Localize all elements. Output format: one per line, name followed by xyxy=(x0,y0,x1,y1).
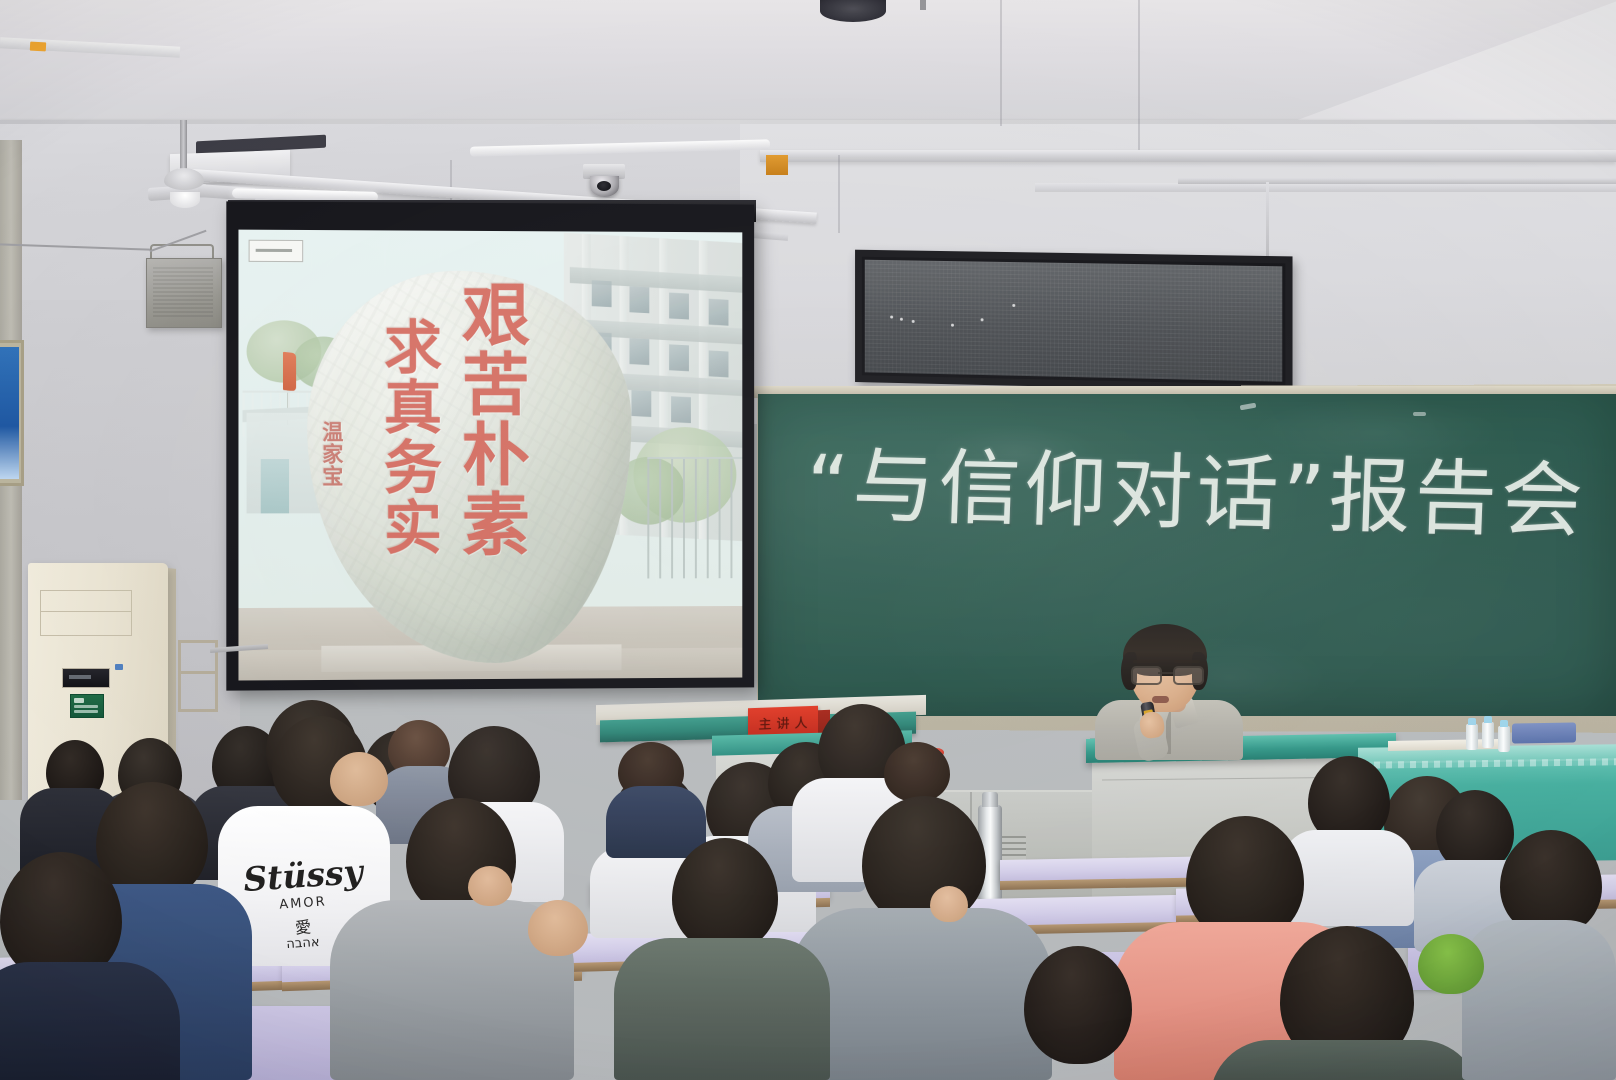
ceiling-fan-lamp xyxy=(170,192,200,208)
student-hand xyxy=(930,886,968,922)
wall-seam xyxy=(838,155,840,233)
student-hand xyxy=(468,866,512,906)
water-bottle xyxy=(1466,724,1478,750)
student-head xyxy=(672,838,778,952)
ceiling-fan-mount-icon xyxy=(820,0,886,22)
blue-case xyxy=(1512,722,1576,743)
presenter-mouth xyxy=(1152,696,1169,703)
ceiling-fan-rod xyxy=(180,120,187,172)
energy-efficiency-label xyxy=(70,694,104,718)
slide-calligraphy-signature: 温家宝 xyxy=(321,421,343,487)
thermos-cap xyxy=(982,792,998,807)
air-conditioner-vent-grill xyxy=(40,590,132,636)
slide-calligraphy-left: 求真务实 xyxy=(378,317,437,558)
led-display-screen xyxy=(865,260,1282,382)
ceiling-fan-rod-2 xyxy=(920,0,926,10)
lecture-hall-photo: “与信仰对话”报告会 主 讲 人 xyxy=(0,0,1616,1080)
wall-marker-orange xyxy=(766,155,788,175)
ceiling-beam-horizontal-2 xyxy=(1035,183,1616,192)
water-bottle xyxy=(1498,726,1510,752)
led-scrolling-display[interactable] xyxy=(855,250,1292,392)
wall-speaker xyxy=(146,258,222,328)
slide-flag xyxy=(283,352,296,392)
slide-plaque xyxy=(249,240,304,262)
notice-board-frame xyxy=(0,340,24,486)
slide-fence-right xyxy=(647,457,742,579)
student-torso xyxy=(614,938,830,1080)
water-bottle xyxy=(1482,722,1494,748)
wall-conduit xyxy=(1178,178,1616,184)
projected-slide: 艰苦朴素 求真务实 温家宝 xyxy=(238,230,742,681)
student-hand xyxy=(330,752,388,806)
air-conditioner-display[interactable] xyxy=(62,668,110,688)
student-torso xyxy=(1462,920,1616,1080)
wall-conduit-drop xyxy=(1266,182,1269,257)
student-head xyxy=(1024,946,1132,1064)
student-backpack xyxy=(1418,934,1484,994)
placard-char-3: 人 xyxy=(795,712,808,731)
placard-char-2: 讲 xyxy=(776,712,789,731)
student-head xyxy=(884,742,950,802)
wall-seam xyxy=(1138,0,1140,150)
camera-lens-icon xyxy=(597,181,611,191)
dome-security-camera-icon xyxy=(590,176,619,197)
wall-seam xyxy=(1000,0,1002,126)
presenter-eyebrow xyxy=(1133,660,1159,663)
student-torso xyxy=(1210,1040,1480,1080)
student-torso xyxy=(606,786,706,858)
eyeglasses-icon xyxy=(1127,666,1205,682)
air-conditioner-badge xyxy=(115,664,123,670)
presenter-eyebrow xyxy=(1174,660,1200,663)
projection-screen: 艰苦朴素 求真务实 温家宝 xyxy=(226,201,754,690)
student-hand xyxy=(528,900,588,956)
slide-calligraphy-right: 艰苦朴素 xyxy=(454,279,523,559)
ceiling-rail-endcap xyxy=(30,42,46,52)
slide-door xyxy=(261,459,289,513)
ceiling-beam-horizontal xyxy=(760,150,1616,162)
student-head xyxy=(96,782,208,900)
student-torso xyxy=(0,962,180,1080)
ceiling-fan-hub xyxy=(164,168,204,190)
chalk-mark xyxy=(1413,412,1426,416)
notice-board-poster xyxy=(0,347,19,479)
blackboard-headline: “与信仰对话”报告会 xyxy=(805,445,1457,541)
placard-char-1: 主 xyxy=(758,713,771,732)
